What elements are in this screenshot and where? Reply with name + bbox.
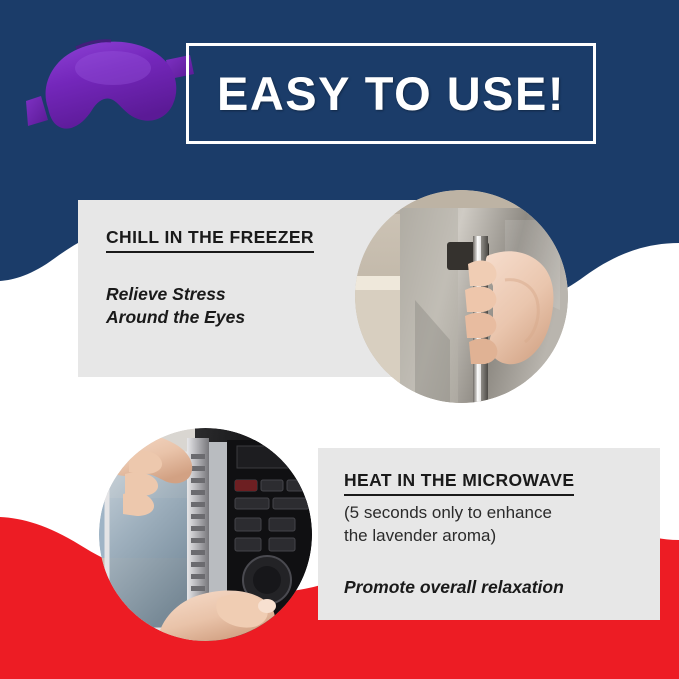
microwave-info-panel: HEAT IN THE MICROWAVE (5 seconds only to…: [318, 448, 660, 620]
product-feature-poster: EASY TO USE! CHILL IN THE FREEZER Reliev…: [0, 0, 679, 679]
microwave-subline: (5 seconds only to enhance the lavender …: [344, 502, 660, 548]
microwave-subline-line1: (5 seconds only to enhance: [344, 502, 660, 525]
microwave-subline-line2: the lavender aroma): [344, 525, 660, 548]
freezer-door-hand-photo: [355, 190, 568, 403]
eye-mask-icon: [18, 24, 203, 150]
microwave-tagline: Promote overall relaxation: [344, 576, 660, 599]
page-title: EASY TO USE!: [186, 43, 596, 144]
microwave-hand-photo: [99, 428, 312, 641]
freezer-heading: CHILL IN THE FREEZER: [106, 227, 314, 253]
microwave-heading: HEAT IN THE MICROWAVE: [344, 470, 574, 496]
